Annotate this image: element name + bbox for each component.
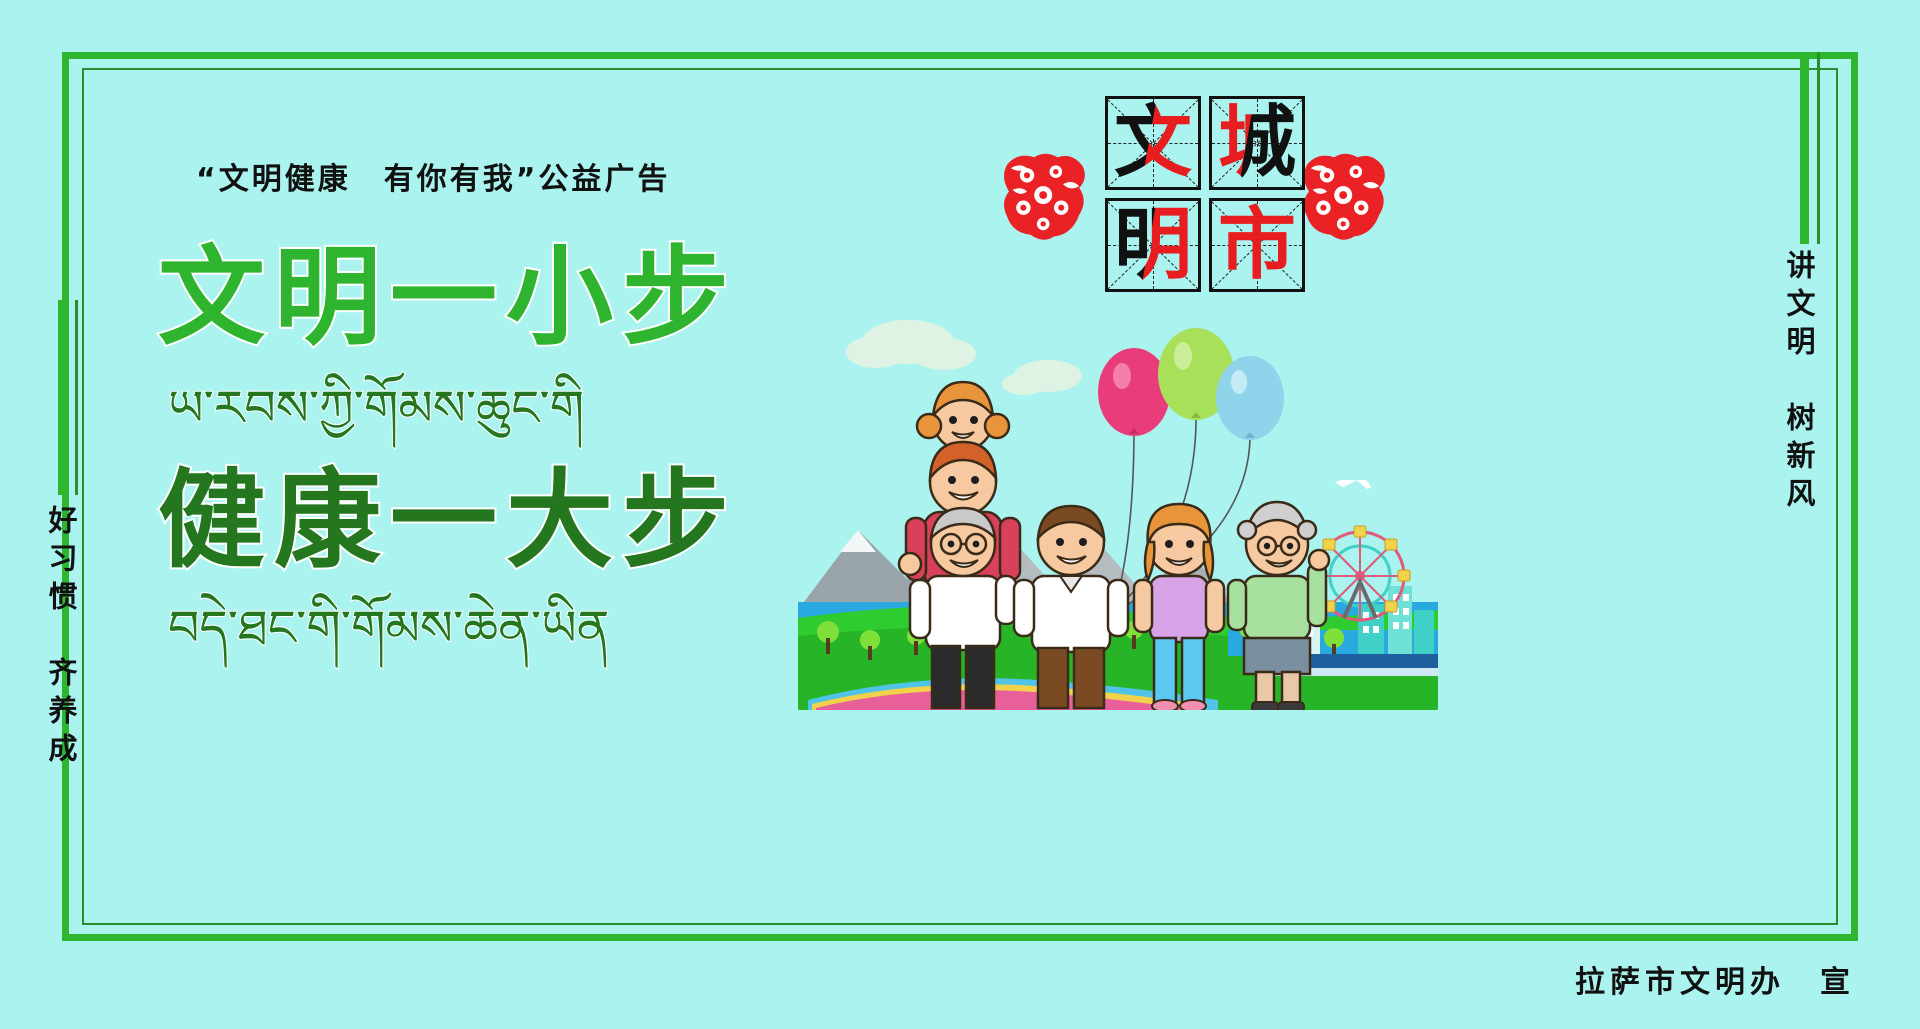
balloon-pink-icon	[1098, 348, 1170, 436]
civilized-city-seal: 文 城 明 市	[1000, 96, 1360, 296]
slogan-line-2-chinese: 健康一大步	[158, 468, 738, 575]
papercut-ornament-right-icon	[1300, 148, 1390, 244]
seal-character-grid: 文 城 明 市	[1105, 96, 1305, 292]
slogan-line-1-tibetan: ཡ་རབས་ཀྱི་གོམས་ཆུང་གི	[168, 378, 584, 439]
seal-cell-wen: 文	[1105, 96, 1201, 190]
seal-char-2: 城	[1212, 99, 1302, 187]
right-accent-rule	[1800, 52, 1809, 244]
slogan-line-1-chinese: 文明一小步	[158, 245, 738, 352]
side-text-right: 讲文明 树新风	[1784, 250, 1813, 516]
balloon-blue-icon	[1216, 356, 1284, 440]
left-accent-rule-thin	[75, 300, 78, 495]
side-text-left: 好习惯 齐养成	[46, 505, 75, 771]
slogan-line-2-tibetan: བདེ་ཐང་གི་གོམས་ཆེན་ཡིན	[168, 598, 609, 659]
right-accent-rule-thin	[1817, 52, 1820, 244]
seal-cell-shi: 市	[1209, 198, 1305, 292]
seal-cell-ming: 明	[1105, 198, 1201, 292]
campaign-kicker: “文明健康 有你有我”公益广告	[196, 154, 670, 198]
seal-cell-cheng: 城	[1209, 96, 1305, 190]
seal-char-4: 市	[1212, 201, 1302, 289]
family-illustration	[798, 280, 1438, 710]
issuer-signature: 拉萨市文明办 宣	[1575, 957, 1855, 1001]
seal-char-3: 明	[1108, 201, 1198, 289]
seal-char-1: 文	[1108, 99, 1198, 187]
left-accent-rule	[58, 300, 67, 495]
papercut-ornament-left-icon	[1000, 148, 1090, 244]
poster-canvas: “文明健康 有你有我”公益广告 文明一小步 ཡ་རབས་ཀྱི་གོམས་ཆུང…	[0, 0, 1920, 1029]
